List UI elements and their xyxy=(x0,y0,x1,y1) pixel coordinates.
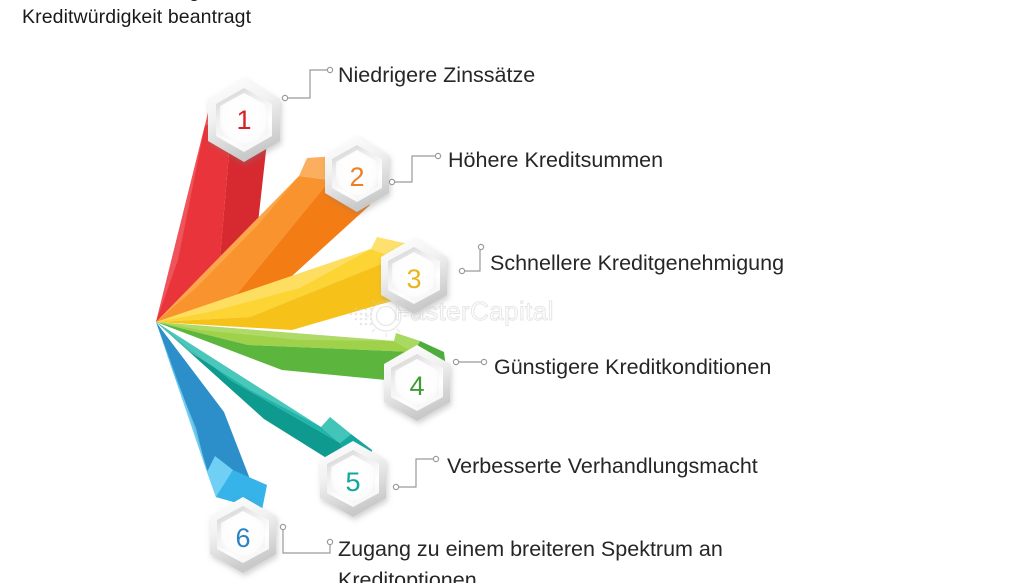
badge-6[interactable] xyxy=(210,497,276,573)
item-label-2[interactable]: Höhere Kreditsummen xyxy=(448,145,663,175)
item-label-1[interactable]: Niedrigere Zinssätze xyxy=(338,60,535,90)
item-label-3[interactable]: Schnellere Kreditgenehmigung xyxy=(490,248,784,278)
badge-number-1: 1 xyxy=(224,100,264,140)
petal-1[interactable] xyxy=(156,96,268,322)
item-label-4[interactable]: Günstigere Kreditkonditionen xyxy=(494,352,771,382)
badge-1[interactable] xyxy=(208,78,280,162)
item-label-5[interactable]: Verbesserte Verhandlungsmacht xyxy=(447,451,758,481)
watermark: FasterCapital xyxy=(336,298,588,332)
connector-1 xyxy=(282,67,332,100)
connector-2 xyxy=(389,153,440,184)
connector-4 xyxy=(453,359,486,364)
connector-5 xyxy=(393,456,438,489)
badge-number-4: 4 xyxy=(397,366,437,406)
page-title: Vorteile, die sich ergeben, wenn man mit… xyxy=(22,0,982,30)
connector-3 xyxy=(459,244,483,273)
petal-6[interactable] xyxy=(156,322,267,510)
infographic-canvas: Vorteile, die sich ergeben, wenn man mit… xyxy=(0,0,1024,583)
badge-2[interactable] xyxy=(325,136,389,212)
item-label-6-line1: Zugang zu einem breiteren Spektrum an xyxy=(338,537,723,561)
badge-number-3: 3 xyxy=(394,259,434,299)
watermark-text: FasterCapital xyxy=(394,296,554,327)
badge-number-2: 2 xyxy=(337,157,377,197)
item-label-6[interactable]: Zugang zu einem breiteren Spektrum anKre… xyxy=(338,534,723,583)
badge-4[interactable] xyxy=(384,345,450,421)
connector-6 xyxy=(280,524,332,553)
badge-number-5: 5 xyxy=(333,462,373,502)
badge-5[interactable] xyxy=(320,441,386,517)
petal-5[interactable] xyxy=(156,322,372,484)
item-label-6-line2: Kreditoptionen xyxy=(338,568,477,583)
badge-number-6: 6 xyxy=(223,518,263,558)
